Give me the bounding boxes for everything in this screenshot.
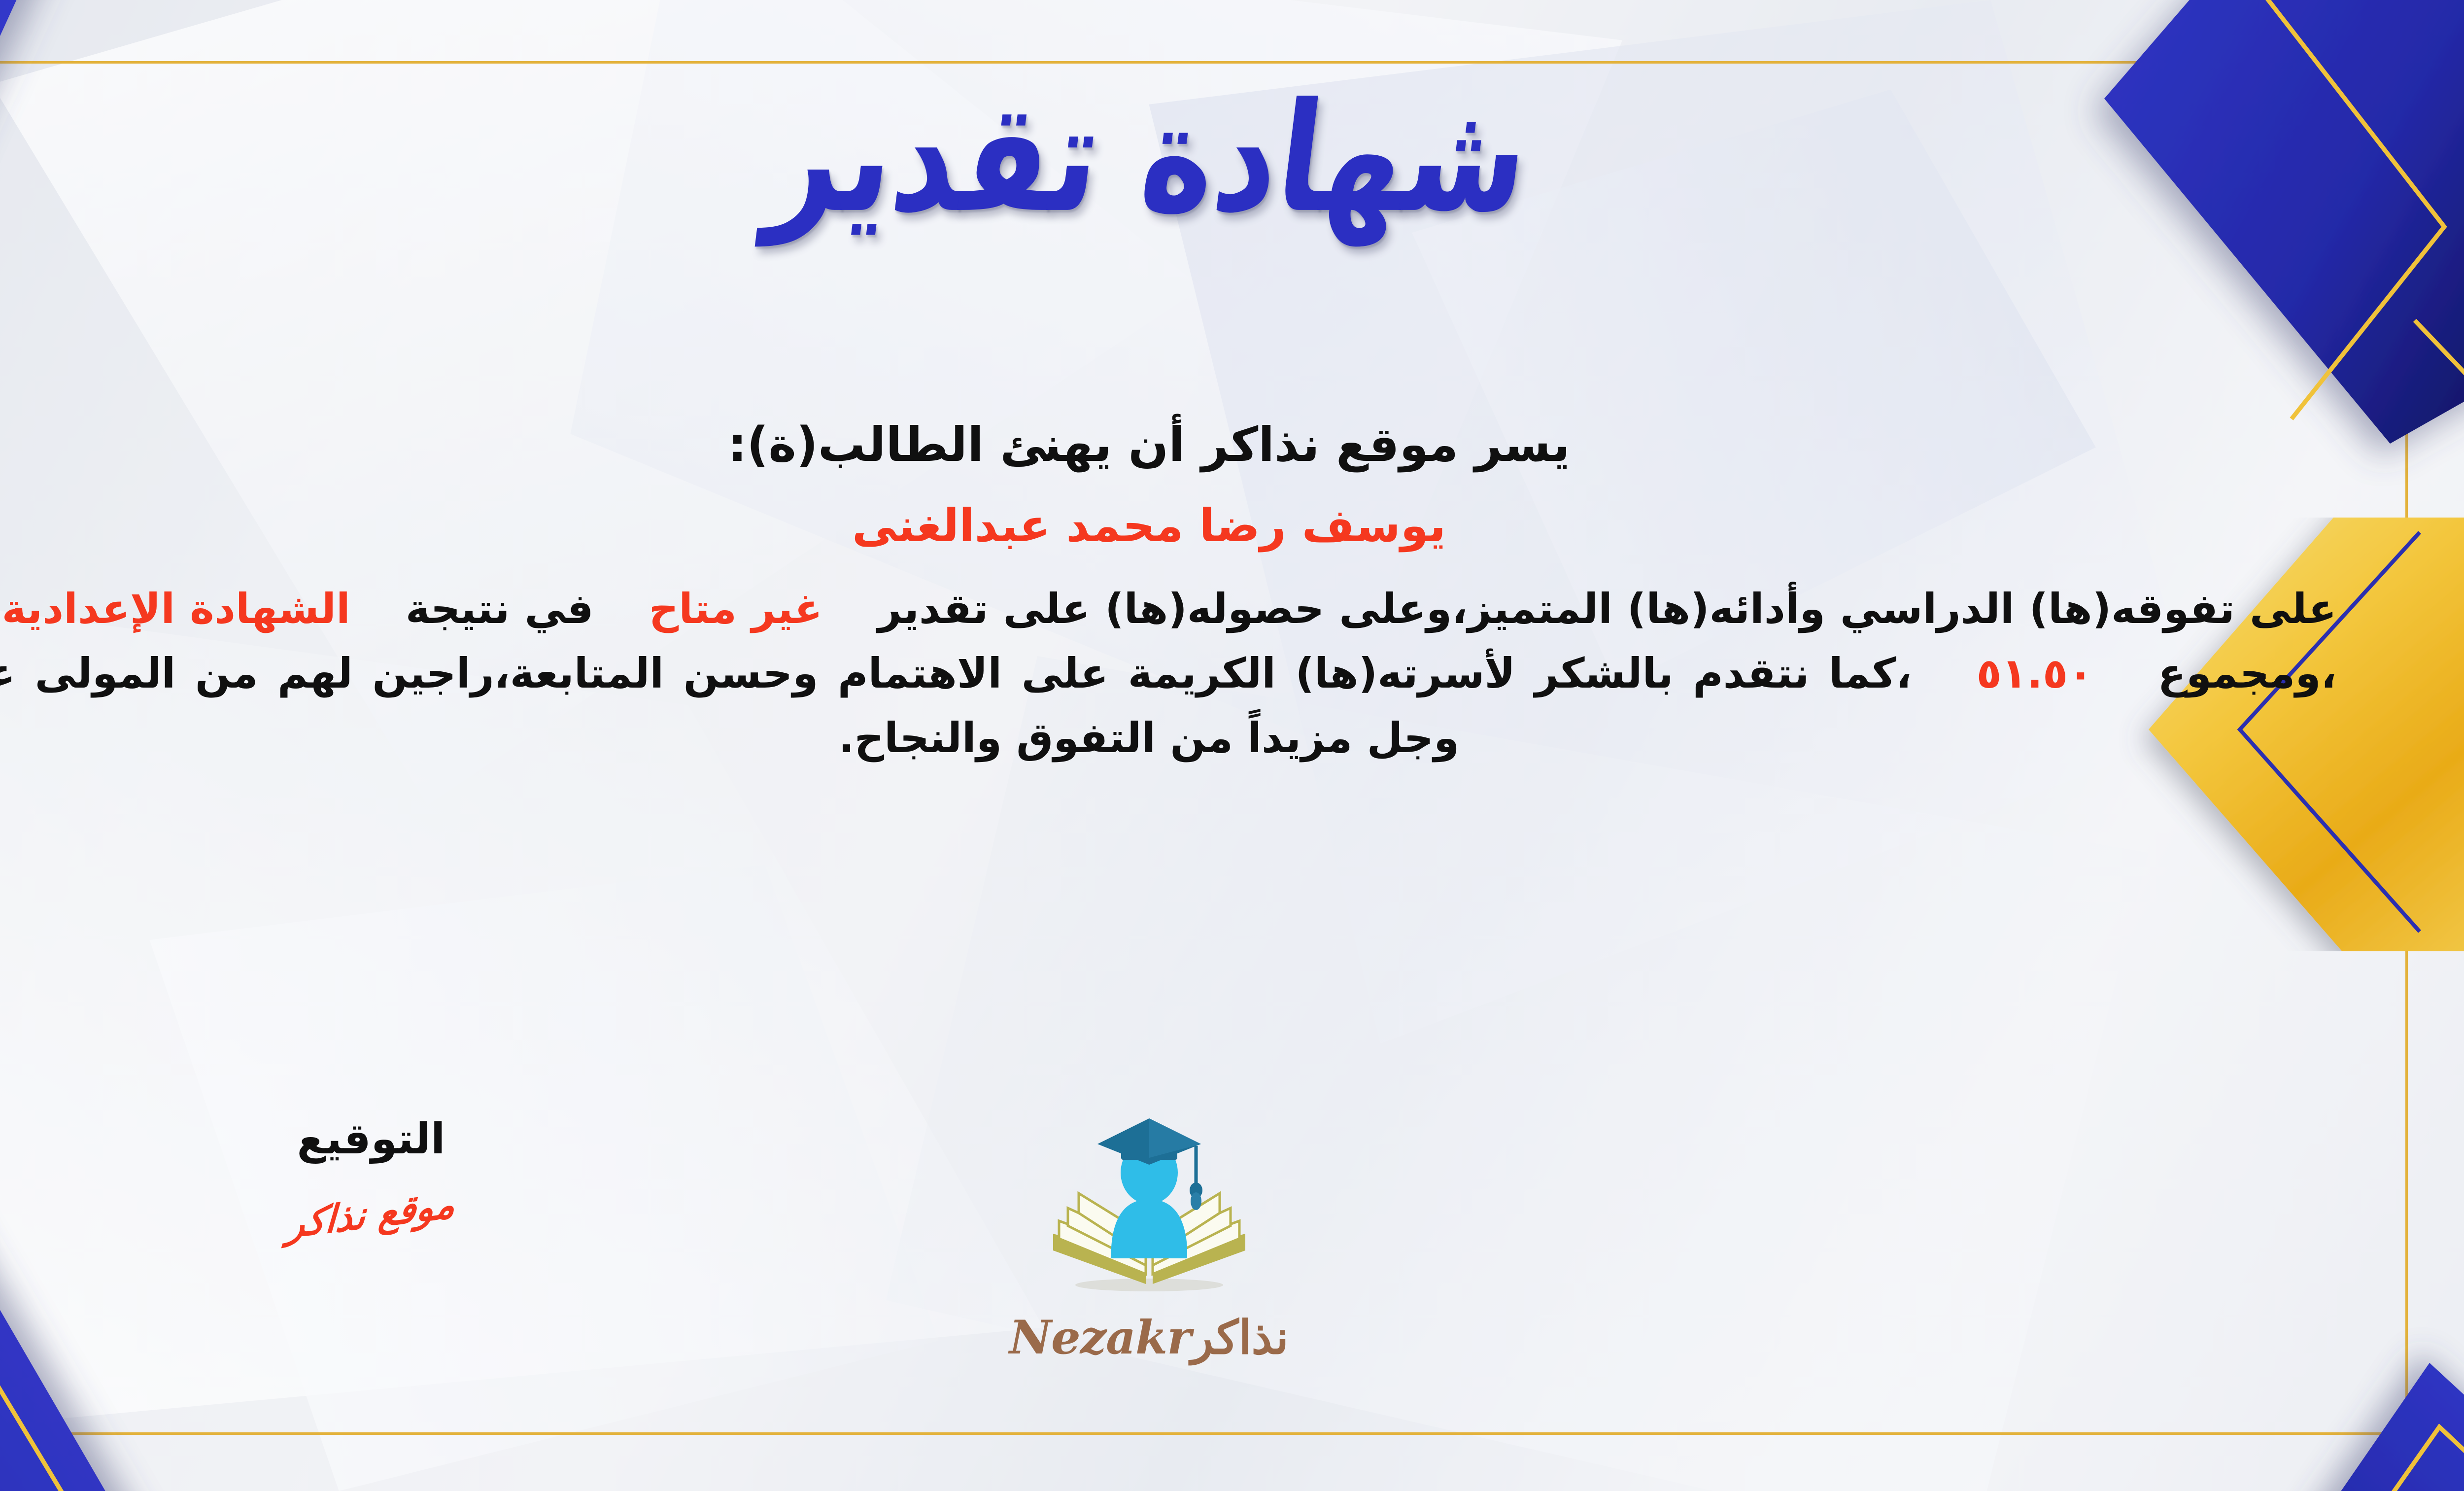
grade-value: غير متاح xyxy=(649,585,822,633)
student-name: يوسف رضا محمد عبدالغنى xyxy=(0,492,2375,560)
site-logo: نذاكرNezakr xyxy=(927,1111,1371,1365)
signature-block: التوقيع موقع نذاكر xyxy=(149,1114,593,1236)
citation-paragraph: على تفوقه(ها) الدراسي وأدائه(ها) المتميز… xyxy=(0,577,2337,770)
logo-wordmark: نذاكرNezakr xyxy=(927,1311,1371,1365)
corner-ornament-bottom-right xyxy=(1996,1107,2464,1491)
certificate-page: شهادة تقدير يسر موقع نذاكر أن يهنئ الطال… xyxy=(0,0,2464,1491)
logo-arabic: نذاكر xyxy=(1191,1311,1289,1365)
certificate-title-area: شهادة تقدير xyxy=(0,94,2464,223)
logo-latin: Nezakr xyxy=(1009,1311,1191,1365)
exam-name: الشهادة الإعدادية xyxy=(2,585,350,633)
citation-part-2: في نتيجة xyxy=(406,585,594,633)
citation-part-4: ،كما نتقدم بالشكر لأسرته(ها) الكريمة على… xyxy=(0,649,1912,762)
total-score: ٥١.٥٠ xyxy=(1977,649,2093,697)
greeting-line: يسر موقع نذاكر أن يهنئ الطالب(ة): xyxy=(0,409,2375,480)
graduate-on-book-icon xyxy=(1033,1111,1265,1309)
certificate-body: يسر موقع نذاكر أن يهنئ الطالب(ة): يوسف ر… xyxy=(0,409,2375,770)
signature-label: التوقيع xyxy=(149,1114,593,1165)
page-title: شهادة تقدير xyxy=(761,79,1537,237)
citation-part-1: على تفوقه(ها) الدراسي وأدائه(ها) المتميز… xyxy=(878,585,2336,633)
citation-part-3: ،ومجموع xyxy=(2157,649,2336,697)
corner-ornament-top-left xyxy=(0,0,440,473)
